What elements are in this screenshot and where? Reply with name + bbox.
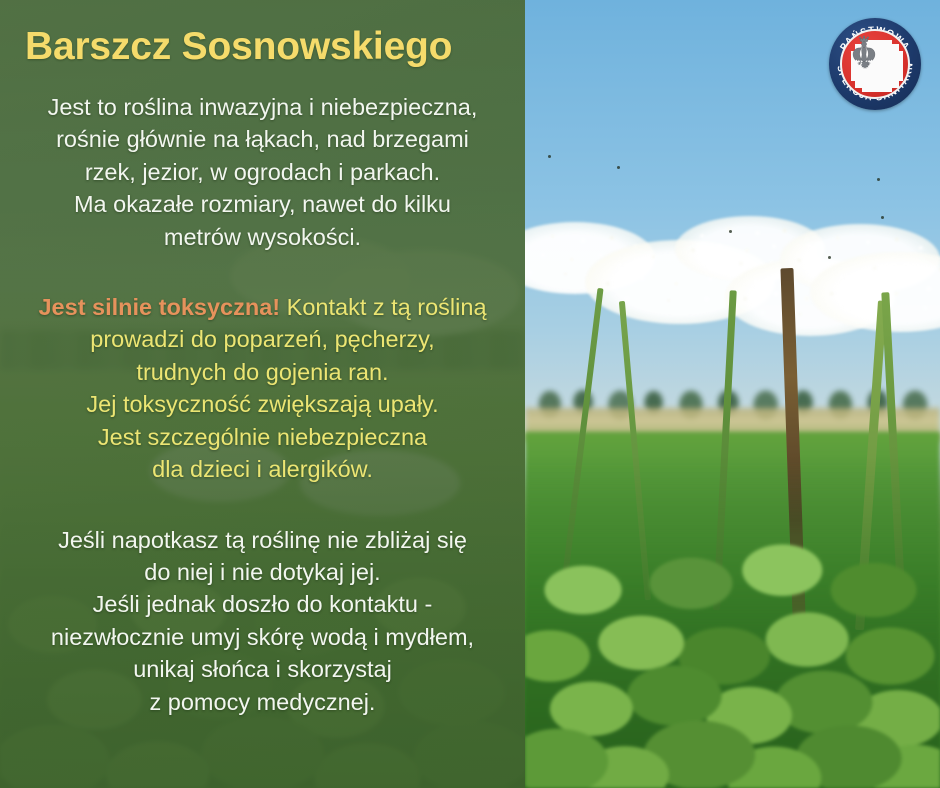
text-line: Jest to roślina inwazyjna i niebezpieczn… xyxy=(14,91,511,123)
warning-first-line: Jest silnie toksyczna! Kontakt z tą rośl… xyxy=(14,291,511,323)
insect-speck xyxy=(617,166,620,169)
insect-speck xyxy=(877,178,880,181)
text-line: niezwłocznie umyj skórę wodą i mydłem, xyxy=(14,621,511,653)
warning-lead-rest: Kontakt z tą rośliną xyxy=(280,294,486,320)
paragraph-description: Jest to roślina inwazyjna i niebezpieczn… xyxy=(14,91,511,253)
text-line: z pomocy medycznej. xyxy=(14,686,511,718)
text-line: unikaj słońca i skorzystaj xyxy=(14,653,511,685)
paragraph-toxicity-warning: Jest silnie toksyczna! Kontakt z tą rośl… xyxy=(14,291,511,486)
text-line: Jeśli jednak doszło do kontaktu - xyxy=(14,588,511,620)
poster: Barszcz Sosnowskiego Jest to roślina inw… xyxy=(0,0,940,788)
text-line: metrów wysokości. xyxy=(14,221,511,253)
paragraph-what-to-do: Jeśli napotkasz tą roślinę nie zbliżaj s… xyxy=(14,524,511,719)
page-title: Barszcz Sosnowskiego xyxy=(14,26,511,69)
text-line: Jeśli napotkasz tą roślinę nie zbliżaj s… xyxy=(14,524,511,556)
insect-speck xyxy=(548,155,551,158)
text-line: rośnie głównie na łąkach, nad brzegami xyxy=(14,123,511,155)
text-line: dla dzieci i alergików. xyxy=(14,453,511,485)
text-line: prowadzi do poparzeń, pęcherzy, xyxy=(14,323,511,355)
panstwowa-inspekcja-sanitarna-logo: PAŃSTWOWA INSPEKCJA SANITARNA xyxy=(829,18,921,110)
insect-speck xyxy=(828,256,831,259)
hogweed-plant-photo xyxy=(525,0,940,788)
text-line: Jej toksyczność zwiększają upały. xyxy=(14,388,511,420)
text-line: Ma okazałe rozmiary, nawet do kilku xyxy=(14,188,511,220)
insect-speck xyxy=(881,216,884,219)
foreground-foliage xyxy=(525,458,940,788)
text-line: rzek, jezior, w ogrodach i parkach. xyxy=(14,156,511,188)
text-line: do niej i nie dotykaj jej. xyxy=(14,556,511,588)
insect-speck xyxy=(729,230,732,233)
text-line: Jest szczególnie niebezpieczna xyxy=(14,421,511,453)
warning-strong-lead: Jest silnie toksyczna! xyxy=(38,294,280,320)
polish-eagle-icon xyxy=(848,35,880,71)
poster-content: Barszcz Sosnowskiego Jest to roślina inw… xyxy=(0,0,525,788)
text-line: trudnych do gojenia ran. xyxy=(14,356,511,388)
logo-red-disc xyxy=(840,29,910,99)
